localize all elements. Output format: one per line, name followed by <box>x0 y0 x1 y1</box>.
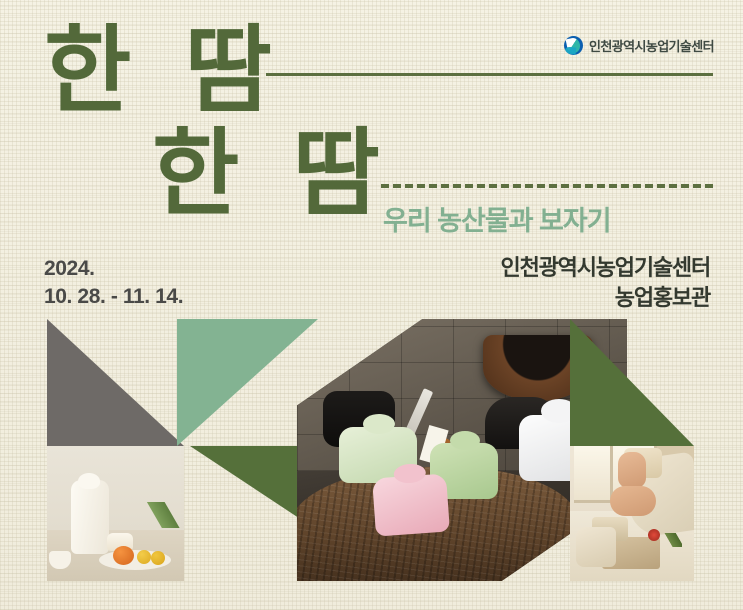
exhibition-venue: 인천광역시농업기술센터 농업홍보관 <box>501 253 710 312</box>
exhibition-year: 2024. <box>44 255 183 283</box>
photo-center-bojagi-pink-tie <box>400 469 419 480</box>
photo-left-persimmon <box>113 546 134 565</box>
title-divider-solid <box>266 73 713 76</box>
poster-canvas: 인천광역시농업기술센터 한 땀 한 땀 우리 농산물과 보자기 2024. 10… <box>0 0 743 610</box>
light-green-triangle-block <box>177 319 318 446</box>
photo-left-leaf <box>138 502 182 528</box>
gray-triangle-block <box>47 319 184 446</box>
dark-green-triangle-block-right <box>570 319 694 446</box>
photo-left-citron-2 <box>151 551 165 565</box>
exhibition-dates: 2024. 10. 28. - 11. 14. <box>44 255 183 312</box>
photo-left-teacup <box>49 551 71 569</box>
photo-center-bojagi-pink <box>372 473 450 536</box>
photo-left-wrapped-bottle <box>71 480 109 554</box>
venue-name: 인천광역시농업기술센터 <box>501 253 710 283</box>
photo-right-hand-lower <box>610 486 656 516</box>
poster-subtitle: 우리 농산물과 보자기 <box>383 199 611 238</box>
poster-title-line-2: 한 땀 <box>152 127 390 222</box>
photo-right-leaf <box>658 533 682 547</box>
photo-collage <box>0 305 743 610</box>
photo-left-bottle-knot <box>78 473 100 489</box>
photo-right-wrapping-hands <box>570 446 694 581</box>
incheon-agri-logo-icon <box>564 36 583 55</box>
photo-left-table-setting <box>47 446 184 581</box>
organization-logo-label: 인천광역시농업기술센터 <box>589 36 714 55</box>
photo-left-citron-1 <box>137 550 151 564</box>
photo-right-cloth-bundle <box>576 527 616 567</box>
subtitle-divider-dashed <box>381 184 713 188</box>
photo-right-hand-upper <box>618 452 646 488</box>
poster-title-line-1: 한 땀 <box>44 24 282 119</box>
